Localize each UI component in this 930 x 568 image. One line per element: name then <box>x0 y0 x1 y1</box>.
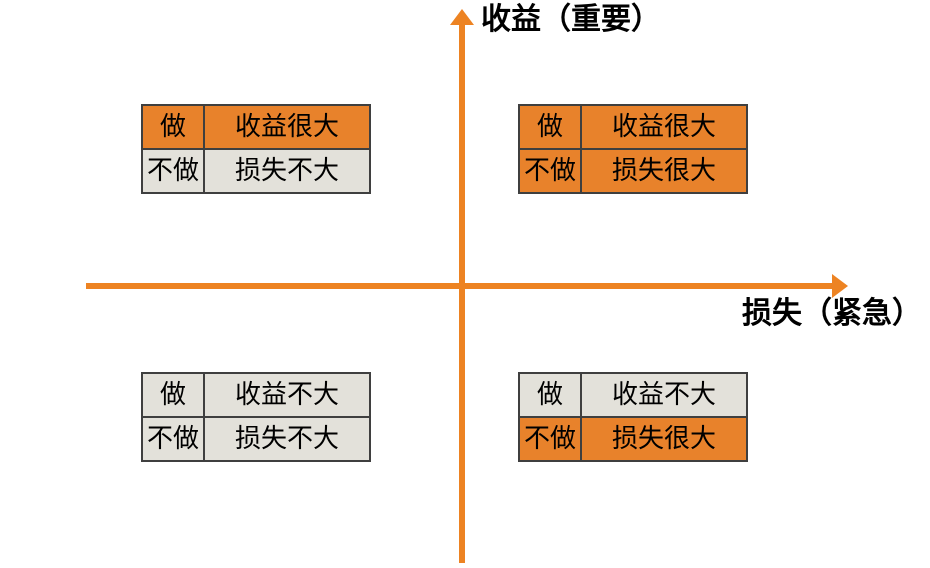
cell-action: 做 <box>142 373 204 417</box>
x-axis-label: 损失（紧急） <box>742 297 922 331</box>
x-axis-line <box>86 283 838 289</box>
cell-action: 不做 <box>519 417 581 461</box>
cell-outcome: 损失很大 <box>581 417 747 461</box>
cell-outcome: 收益不大 <box>581 373 747 417</box>
cell-outcome: 收益很大 <box>204 105 370 149</box>
diagram-canvas: 收益（重要） 损失（紧急） 做 收益很大 不做 损失不大 做 收益很大 不做 损… <box>0 0 930 568</box>
quadrant-table-top-left: 做 收益很大 不做 损失不大 <box>141 104 371 194</box>
table-row: 做 收益不大 <box>519 373 747 417</box>
y-axis-label: 收益（重要） <box>481 3 661 37</box>
cell-action: 不做 <box>142 149 204 193</box>
quadrant-table-bottom-left: 做 收益不大 不做 损失不大 <box>141 372 371 462</box>
table-row: 做 收益不大 <box>142 373 370 417</box>
cell-outcome: 损失很大 <box>581 149 747 193</box>
arrow-up-icon <box>450 9 474 25</box>
cell-outcome: 收益很大 <box>581 105 747 149</box>
cell-outcome: 收益不大 <box>204 373 370 417</box>
cell-action: 做 <box>519 105 581 149</box>
table-row: 不做 损失不大 <box>142 417 370 461</box>
cell-action: 不做 <box>142 417 204 461</box>
quadrant-table-top-right: 做 收益很大 不做 损失很大 <box>518 104 748 194</box>
cell-action: 不做 <box>519 149 581 193</box>
table-row: 不做 损失很大 <box>519 149 747 193</box>
cell-action: 做 <box>519 373 581 417</box>
arrow-right-icon <box>832 274 848 298</box>
y-axis-line <box>459 18 465 563</box>
cell-outcome: 损失不大 <box>204 417 370 461</box>
cell-action: 做 <box>142 105 204 149</box>
table-row: 做 收益很大 <box>142 105 370 149</box>
table-row: 不做 损失不大 <box>142 149 370 193</box>
cell-outcome: 损失不大 <box>204 149 370 193</box>
table-row: 做 收益很大 <box>519 105 747 149</box>
quadrant-table-bottom-right: 做 收益不大 不做 损失很大 <box>518 372 748 462</box>
table-row: 不做 损失很大 <box>519 417 747 461</box>
